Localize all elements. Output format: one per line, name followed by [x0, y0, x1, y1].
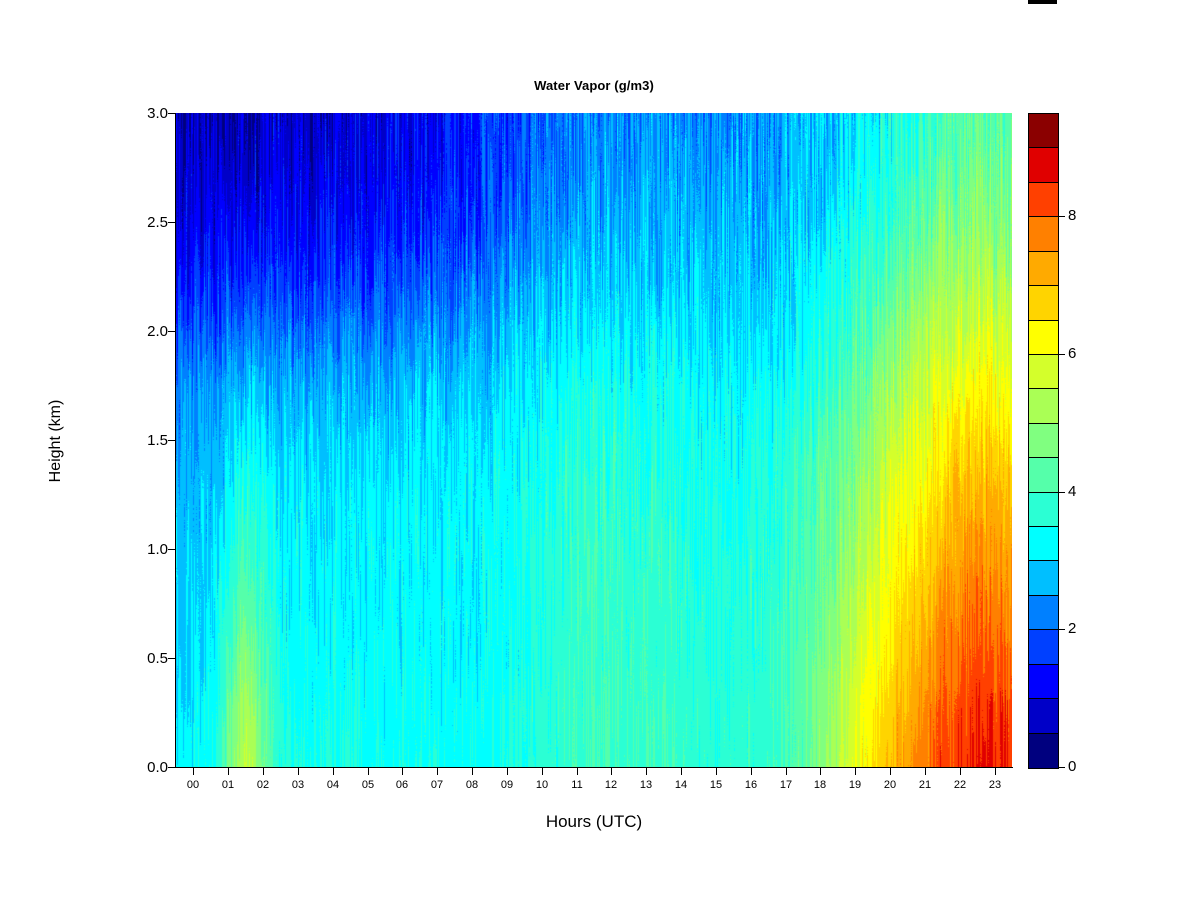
x-tick-label: 19 [835, 779, 875, 791]
x-tick-label: 22 [940, 779, 980, 791]
x-tick-label: 16 [731, 779, 771, 791]
x-tick [751, 768, 752, 775]
x-tick [611, 768, 612, 775]
colorbar-tick [1058, 354, 1065, 355]
colorbar-tick-label: 2 [1068, 620, 1108, 637]
x-tick-label: 23 [975, 779, 1015, 791]
x-tick [890, 768, 891, 775]
y-tick-label: 1.0 [108, 541, 168, 558]
colorbar-band [1029, 527, 1058, 561]
colorbar-tick-label: 4 [1068, 483, 1108, 500]
colorbar-tick [1058, 216, 1065, 217]
colorbar-tick-label: 6 [1068, 345, 1108, 362]
x-tick-label: 00 [173, 779, 213, 791]
colorbar-band [1029, 734, 1058, 768]
figure-canvas: Water Vapor (g/m3) 0.00.51.01.52.02.53.0… [0, 0, 1200, 900]
colorbar-band [1029, 114, 1058, 148]
x-tick-label: 09 [487, 779, 527, 791]
x-tick [995, 768, 996, 775]
x-tick-label: 13 [626, 779, 666, 791]
colorbar-band [1029, 630, 1058, 664]
y-axis-title: Height (km) [47, 341, 65, 541]
heatmap-image [176, 113, 1012, 767]
colorbar-band [1029, 286, 1058, 320]
x-tick-label: 03 [278, 779, 318, 791]
x-tick [263, 768, 264, 775]
x-tick [820, 768, 821, 775]
x-tick-label: 15 [696, 779, 736, 791]
x-tick [193, 768, 194, 775]
x-tick [542, 768, 543, 775]
x-tick [925, 768, 926, 775]
colorbar-band [1029, 424, 1058, 458]
x-tick [333, 768, 334, 775]
heatmap-panel [176, 113, 1012, 767]
colorbar [1028, 113, 1059, 769]
colorbar-band [1029, 561, 1058, 595]
x-axis-title: Hours (UTC) [176, 812, 1012, 832]
colorbar-tick-label: 0 [1068, 758, 1108, 775]
x-tick [402, 768, 403, 775]
colorbar-band [1029, 183, 1058, 217]
x-axis-line [176, 767, 1013, 768]
x-tick [716, 768, 717, 775]
colorbar-tick [1058, 767, 1065, 768]
x-tick [855, 768, 856, 775]
x-tick [646, 768, 647, 775]
x-tick-label: 06 [382, 779, 422, 791]
colorbar-band [1029, 458, 1058, 492]
y-tick-label: 2.0 [108, 323, 168, 340]
colorbar-tick [1058, 629, 1065, 630]
x-tick-label: 04 [313, 779, 353, 791]
y-tick-label: 0.5 [108, 650, 168, 667]
x-tick [681, 768, 682, 775]
colorbar-tick-label: 8 [1068, 207, 1108, 224]
colorbar-band [1029, 217, 1058, 251]
page-title: Water Vapor (g/m3) [176, 78, 1012, 93]
y-axis-line [175, 113, 176, 768]
x-tick [298, 768, 299, 775]
y-tick [168, 222, 175, 223]
x-tick [960, 768, 961, 775]
colorbar-band [1029, 665, 1058, 699]
x-tick [786, 768, 787, 775]
x-tick [577, 768, 578, 775]
x-tick-label: 18 [800, 779, 840, 791]
colorbar-band [1029, 355, 1058, 389]
x-tick [228, 768, 229, 775]
y-tick-label: 0.0 [108, 759, 168, 776]
x-tick [437, 768, 438, 775]
x-tick-label: 14 [661, 779, 701, 791]
y-tick-label: 1.5 [108, 432, 168, 449]
x-tick-label: 20 [870, 779, 910, 791]
x-tick [368, 768, 369, 775]
x-tick-label: 21 [905, 779, 945, 791]
y-tick [168, 549, 175, 550]
colorbar-tick [1058, 492, 1065, 493]
top-edge-artifact [1028, 0, 1057, 4]
x-tick-label: 12 [591, 779, 631, 791]
colorbar-band [1029, 148, 1058, 182]
colorbar-band [1029, 699, 1058, 733]
x-tick-label: 07 [417, 779, 457, 791]
y-tick-label: 3.0 [108, 105, 168, 122]
colorbar-band [1029, 252, 1058, 286]
x-tick-label: 08 [452, 779, 492, 791]
colorbar-band [1029, 596, 1058, 630]
colorbar-band [1029, 493, 1058, 527]
y-tick [168, 113, 175, 114]
x-tick-label: 10 [522, 779, 562, 791]
y-tick [168, 658, 175, 659]
x-tick-label: 01 [208, 779, 248, 791]
x-tick [472, 768, 473, 775]
y-tick-label: 2.5 [108, 214, 168, 231]
x-tick-label: 02 [243, 779, 283, 791]
x-tick [507, 768, 508, 775]
colorbar-band [1029, 321, 1058, 355]
y-tick [168, 440, 175, 441]
y-tick [168, 331, 175, 332]
y-tick [168, 767, 175, 768]
colorbar-band [1029, 389, 1058, 423]
